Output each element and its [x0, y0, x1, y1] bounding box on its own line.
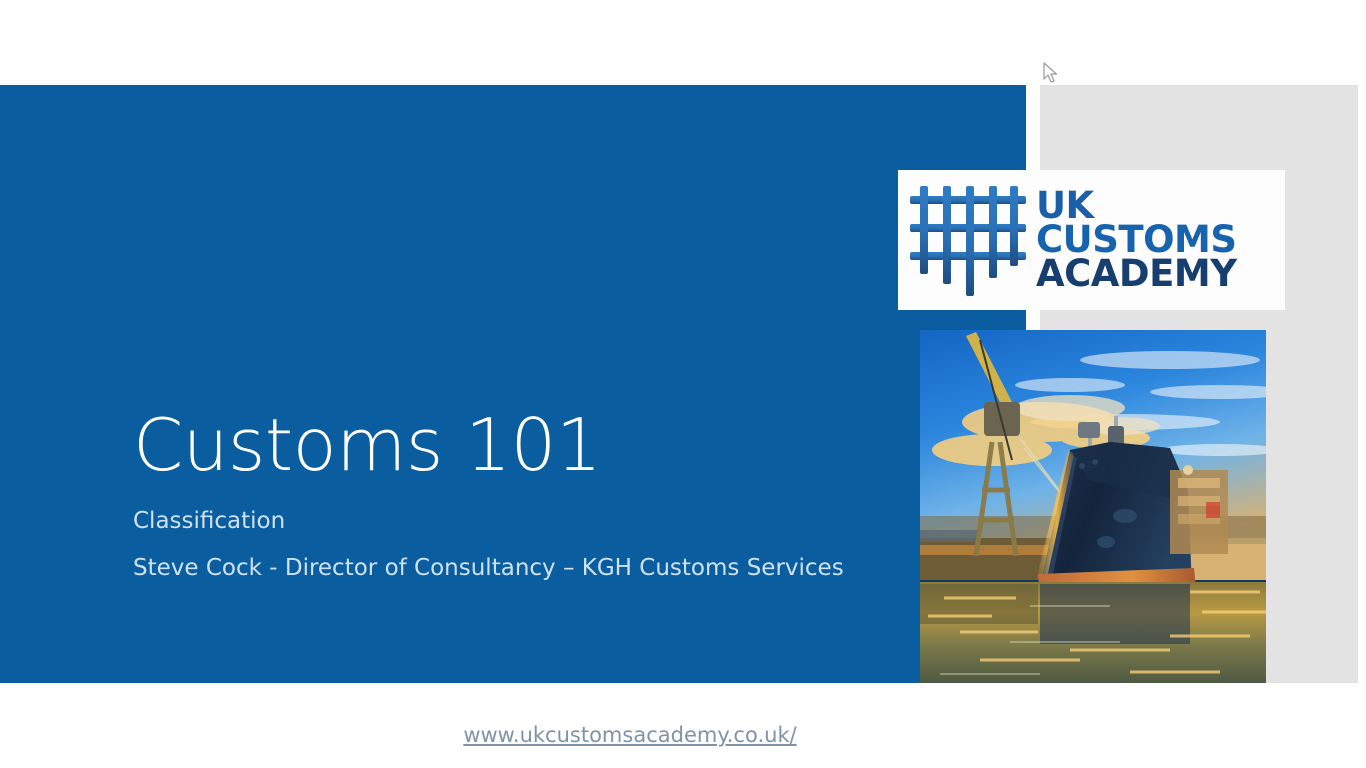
- subtitle-list: Classification Steve Cock - Director of …: [133, 510, 933, 580]
- subtitle-line-classification: Classification: [133, 510, 933, 533]
- port-ship-photo: [920, 330, 1266, 683]
- title-block: Customs 101 Classification Steve Cock - …: [133, 408, 933, 604]
- footer-website-link[interactable]: www.ukcustomsacademy.co.uk/: [0, 723, 1260, 747]
- logo-wordmark: UK CUSTOMS ACADEMY: [1036, 189, 1237, 291]
- page-title: Customs 101: [133, 408, 933, 484]
- uk-customs-academy-logo: UK CUSTOMS ACADEMY: [898, 170, 1285, 310]
- arrow-pointer-icon: [1043, 62, 1059, 84]
- presentation-slide: Customs 101 Classification Steve Cock - …: [0, 0, 1366, 768]
- grid-fence-icon: [906, 184, 1030, 296]
- logo-word-academy: ACADEMY: [1036, 257, 1237, 291]
- subtitle-line-presenter: Steve Cock - Director of Consultancy – K…: [133, 557, 933, 580]
